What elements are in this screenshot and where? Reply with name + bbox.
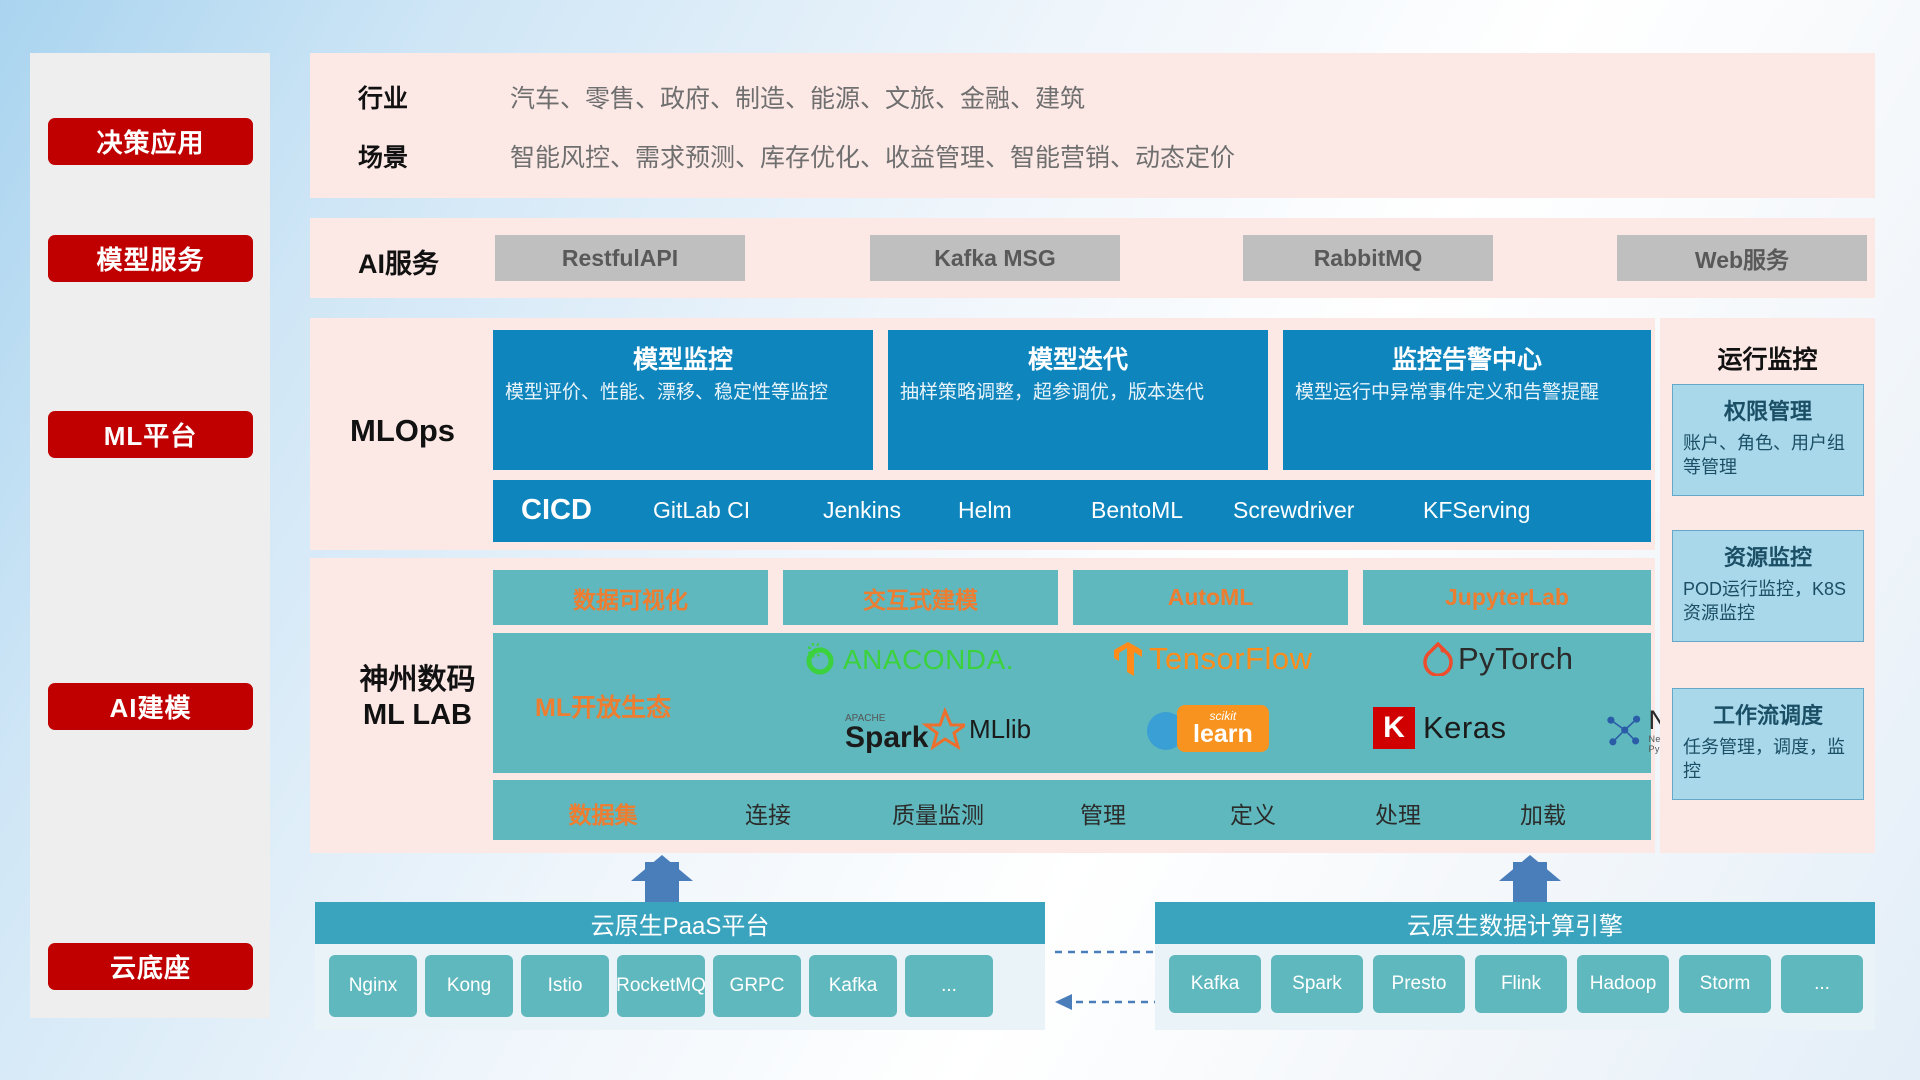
mon-box-desc: 账户、角色、用户组等管理 bbox=[1673, 426, 1863, 480]
mon-box-title: 工作流调度 bbox=[1673, 698, 1863, 730]
dataset-item-load[interactable]: 加载 bbox=[1478, 796, 1608, 830]
layer-tag-cloud-base[interactable]: 云底座 bbox=[48, 943, 253, 990]
dataset-item-quality[interactable]: 质量监测 bbox=[858, 796, 1018, 830]
engine-chip-spark[interactable]: Spark bbox=[1271, 955, 1363, 1013]
ai-service-chip-restfulapi[interactable]: RestfulAPI bbox=[495, 235, 745, 281]
layer-tag-ml-platform[interactable]: ML平台 bbox=[48, 411, 253, 458]
tensorflow-label: TensorFlow bbox=[1149, 641, 1313, 677]
engine-chip-kafka[interactable]: Kafka bbox=[1169, 955, 1261, 1013]
engine-title: 云原生数据计算引擎 bbox=[1155, 902, 1875, 944]
monitoring-title: 运行监控 bbox=[1660, 340, 1875, 376]
paas-tray: 云原生PaaS平台 Nginx Kong Istio RocketMQ GRPC… bbox=[315, 902, 1045, 1030]
mlops-label: MLOps bbox=[350, 413, 455, 449]
ai-service-chip-rabbitmq[interactable]: RabbitMQ bbox=[1243, 235, 1493, 281]
anaconda-label: ANACONDA bbox=[843, 644, 1006, 676]
cicd-title: CICD bbox=[521, 494, 592, 527]
mon-box-desc: POD运行监控，K8S资源监控 bbox=[1673, 572, 1863, 626]
svg-text:Spark: Spark bbox=[845, 721, 929, 753]
paas-title: 云原生PaaS平台 bbox=[315, 902, 1045, 944]
networkx-icon bbox=[1603, 710, 1645, 752]
dataset-item-define[interactable]: 定义 bbox=[1188, 796, 1318, 830]
spark-mllib-logo: APACHE Spark MLlib bbox=[845, 705, 1031, 753]
mon-box-title: 资源监控 bbox=[1673, 540, 1863, 572]
tensorflow-logo: TensorFlow bbox=[1113, 641, 1313, 677]
pytorch-label: PyTorch bbox=[1458, 641, 1573, 677]
ai-service-chip-web[interactable]: Web服务 bbox=[1617, 235, 1867, 281]
layer-tag-label: 模型服务 bbox=[96, 240, 204, 277]
layer-tag-label: 云底座 bbox=[110, 948, 191, 985]
card-desc: 模型运行中异常事件定义和告警提醒 bbox=[1283, 380, 1651, 406]
decision-row-text-industry: 汽车、零售、政府、制造、能源、文旅、金融、建筑 bbox=[510, 79, 1085, 115]
pytorch-logo: PyTorch bbox=[1423, 641, 1573, 677]
mllab-ecosystem-label: ML开放生态 bbox=[535, 688, 671, 724]
cicd-item-screwdriver[interactable]: Screwdriver bbox=[1233, 496, 1338, 525]
mon-box-title: 权限管理 bbox=[1673, 394, 1863, 426]
scikit-learn-badge: scikit learn bbox=[1177, 705, 1269, 752]
paas-chip-istio[interactable]: Istio bbox=[521, 955, 609, 1017]
anaconda-logo: ANACONDA . bbox=[803, 643, 1013, 677]
monitoring-box-workflow[interactable]: 工作流调度 任务管理，调度，监控 bbox=[1672, 688, 1864, 800]
card-title: 模型迭代 bbox=[888, 340, 1268, 376]
arrow-up-paas-head bbox=[631, 855, 693, 881]
keras-icon: K bbox=[1373, 707, 1415, 749]
ai-service-band: AI服务 RestfulAPI Kafka MSG RabbitMQ Web服务 bbox=[310, 218, 1875, 298]
mlops-card-alert-center[interactable]: 监控告警中心 模型运行中异常事件定义和告警提醒 bbox=[1283, 330, 1651, 470]
decision-band: 行业 汽车、零售、政府、制造、能源、文旅、金融、建筑 场景 智能风控、需求预测、… bbox=[310, 53, 1875, 198]
engine-chip-hadoop[interactable]: Hadoop bbox=[1577, 955, 1669, 1013]
layer-tag-label: ML平台 bbox=[104, 416, 198, 453]
monitoring-box-resource[interactable]: 资源监控 POD运行监控，K8S资源监控 bbox=[1672, 530, 1864, 642]
mllab-band: 神州数码 ML LAB 数据可视化 交互式建模 AutoML JupyterLa… bbox=[310, 558, 1655, 853]
card-desc: 模型评价、性能、漂移、稳定性等监控 bbox=[493, 380, 873, 406]
cicd-item-jenkins[interactable]: Jenkins bbox=[823, 496, 928, 525]
spark-icon: APACHE Spark bbox=[845, 705, 965, 753]
cicd-item-kfserving[interactable]: KFServing bbox=[1423, 496, 1528, 525]
paas-chip-nginx[interactable]: Nginx bbox=[329, 955, 417, 1017]
mllab-tool-automl[interactable]: AutoML bbox=[1073, 570, 1348, 625]
mlops-card-model-iteration[interactable]: 模型迭代 抽样策略调整，超参调优，版本迭代 bbox=[888, 330, 1268, 470]
paas-title-label: 云原生PaaS平台 bbox=[591, 906, 770, 941]
keras-label: Keras bbox=[1423, 710, 1506, 746]
mlops-band: MLOps 模型监控 模型评价、性能、漂移、稳定性等监控 模型迭代 抽样策略调整… bbox=[310, 318, 1655, 550]
pytorch-icon bbox=[1423, 642, 1453, 676]
engine-chip-presto[interactable]: Presto bbox=[1373, 955, 1465, 1013]
mllab-ecosystem-panel: ML开放生态 ANACONDA . TensorFlow bbox=[493, 633, 1651, 773]
mllab-label-line2: ML LAB bbox=[363, 698, 472, 733]
decision-row-text-scene: 智能风控、需求预测、库存优化、收益管理、智能营销、动态定价 bbox=[510, 138, 1235, 174]
mllab-label: 神州数码 ML LAB bbox=[330, 658, 505, 738]
layer-tag-model-svc[interactable]: 模型服务 bbox=[48, 235, 253, 282]
layer-tag-label: 决策应用 bbox=[96, 123, 204, 160]
cicd-item-bentoml[interactable]: BentoML bbox=[1091, 496, 1196, 525]
paas-chip-more[interactable]: ... bbox=[905, 955, 993, 1017]
mlops-card-model-monitor[interactable]: 模型监控 模型评价、性能、漂移、稳定性等监控 bbox=[493, 330, 873, 470]
decision-row-label-industry: 行业 bbox=[358, 79, 408, 115]
layer-tag-decision[interactable]: 决策应用 bbox=[48, 118, 253, 165]
layer-rail: 决策应用 模型服务 ML平台 AI建模 云底座 bbox=[30, 53, 270, 1018]
monitoring-box-permission[interactable]: 权限管理 账户、角色、用户组等管理 bbox=[1672, 384, 1864, 496]
card-title: 监控告警中心 bbox=[1283, 340, 1651, 376]
keras-logo: K Keras bbox=[1373, 707, 1506, 749]
mllib-label: MLlib bbox=[969, 714, 1031, 745]
paas-chip-rocketmq[interactable]: RocketMQ bbox=[617, 955, 705, 1017]
engine-chip-flink[interactable]: Flink bbox=[1475, 955, 1567, 1013]
dataset-strip: 数据集 连接 质量监测 管理 定义 处理 加载 bbox=[493, 780, 1651, 840]
scikit-learn-logo: scikit learn bbox=[1143, 705, 1269, 752]
mllab-label-line1: 神州数码 bbox=[359, 663, 475, 698]
engine-chip-more[interactable]: ... bbox=[1781, 955, 1863, 1013]
engine-chip-storm[interactable]: Storm bbox=[1679, 955, 1771, 1013]
mon-box-desc: 任务管理，调度，监控 bbox=[1673, 730, 1863, 784]
engine-title-label: 云原生数据计算引擎 bbox=[1407, 906, 1623, 941]
architecture-diagram: 决策应用 模型服务 ML平台 AI建模 云底座 行业 汽车、零售、政府、制造、能… bbox=[0, 0, 1920, 1080]
cicd-item-helm[interactable]: Helm bbox=[958, 496, 1063, 525]
decision-row-label-scene: 场景 bbox=[358, 138, 408, 174]
mllab-tool-interactive[interactable]: 交互式建模 bbox=[783, 570, 1058, 625]
layer-tag-label: AI建模 bbox=[109, 688, 191, 725]
ai-service-chip-kafka-msg[interactable]: Kafka MSG bbox=[870, 235, 1120, 281]
tensorflow-icon bbox=[1113, 641, 1143, 677]
mllab-tool-data-viz[interactable]: 数据可视化 bbox=[493, 570, 768, 625]
paas-chip-grpc[interactable]: GRPC bbox=[713, 955, 801, 1017]
paas-chip-kafka[interactable]: Kafka bbox=[809, 955, 897, 1017]
scikit-learn-label: learn bbox=[1193, 722, 1253, 747]
cicd-item-gitlab-ci[interactable]: GitLab CI bbox=[653, 496, 758, 525]
cicd-strip: CICD GitLab CI Jenkins Helm BentoML Scre… bbox=[493, 480, 1651, 542]
ai-service-label: AI服务 bbox=[358, 242, 439, 281]
anaconda-icon bbox=[803, 643, 837, 677]
monitoring-column: 运行监控 权限管理 账户、角色、用户组等管理 资源监控 POD运行监控，K8S资… bbox=[1660, 318, 1875, 853]
dataset-item-manage[interactable]: 管理 bbox=[1038, 796, 1168, 830]
paas-chip-kong[interactable]: Kong bbox=[425, 955, 513, 1017]
engine-tray: 云原生数据计算引擎 Kafka Spark Presto Flink Hadoo… bbox=[1155, 902, 1875, 1030]
dataset-item-connect[interactable]: 连接 bbox=[703, 796, 833, 830]
card-title: 模型监控 bbox=[493, 340, 873, 376]
dataset-key-label: 数据集 bbox=[538, 796, 668, 830]
arrow-up-engine-head bbox=[1499, 855, 1561, 881]
dataset-item-process[interactable]: 处理 bbox=[1333, 796, 1463, 830]
layer-tag-ai-modeling[interactable]: AI建模 bbox=[48, 683, 253, 730]
card-desc: 抽样策略调整，超参调优，版本迭代 bbox=[888, 380, 1268, 406]
mllab-tool-jupyterlab[interactable]: JupyterLab bbox=[1363, 570, 1651, 625]
